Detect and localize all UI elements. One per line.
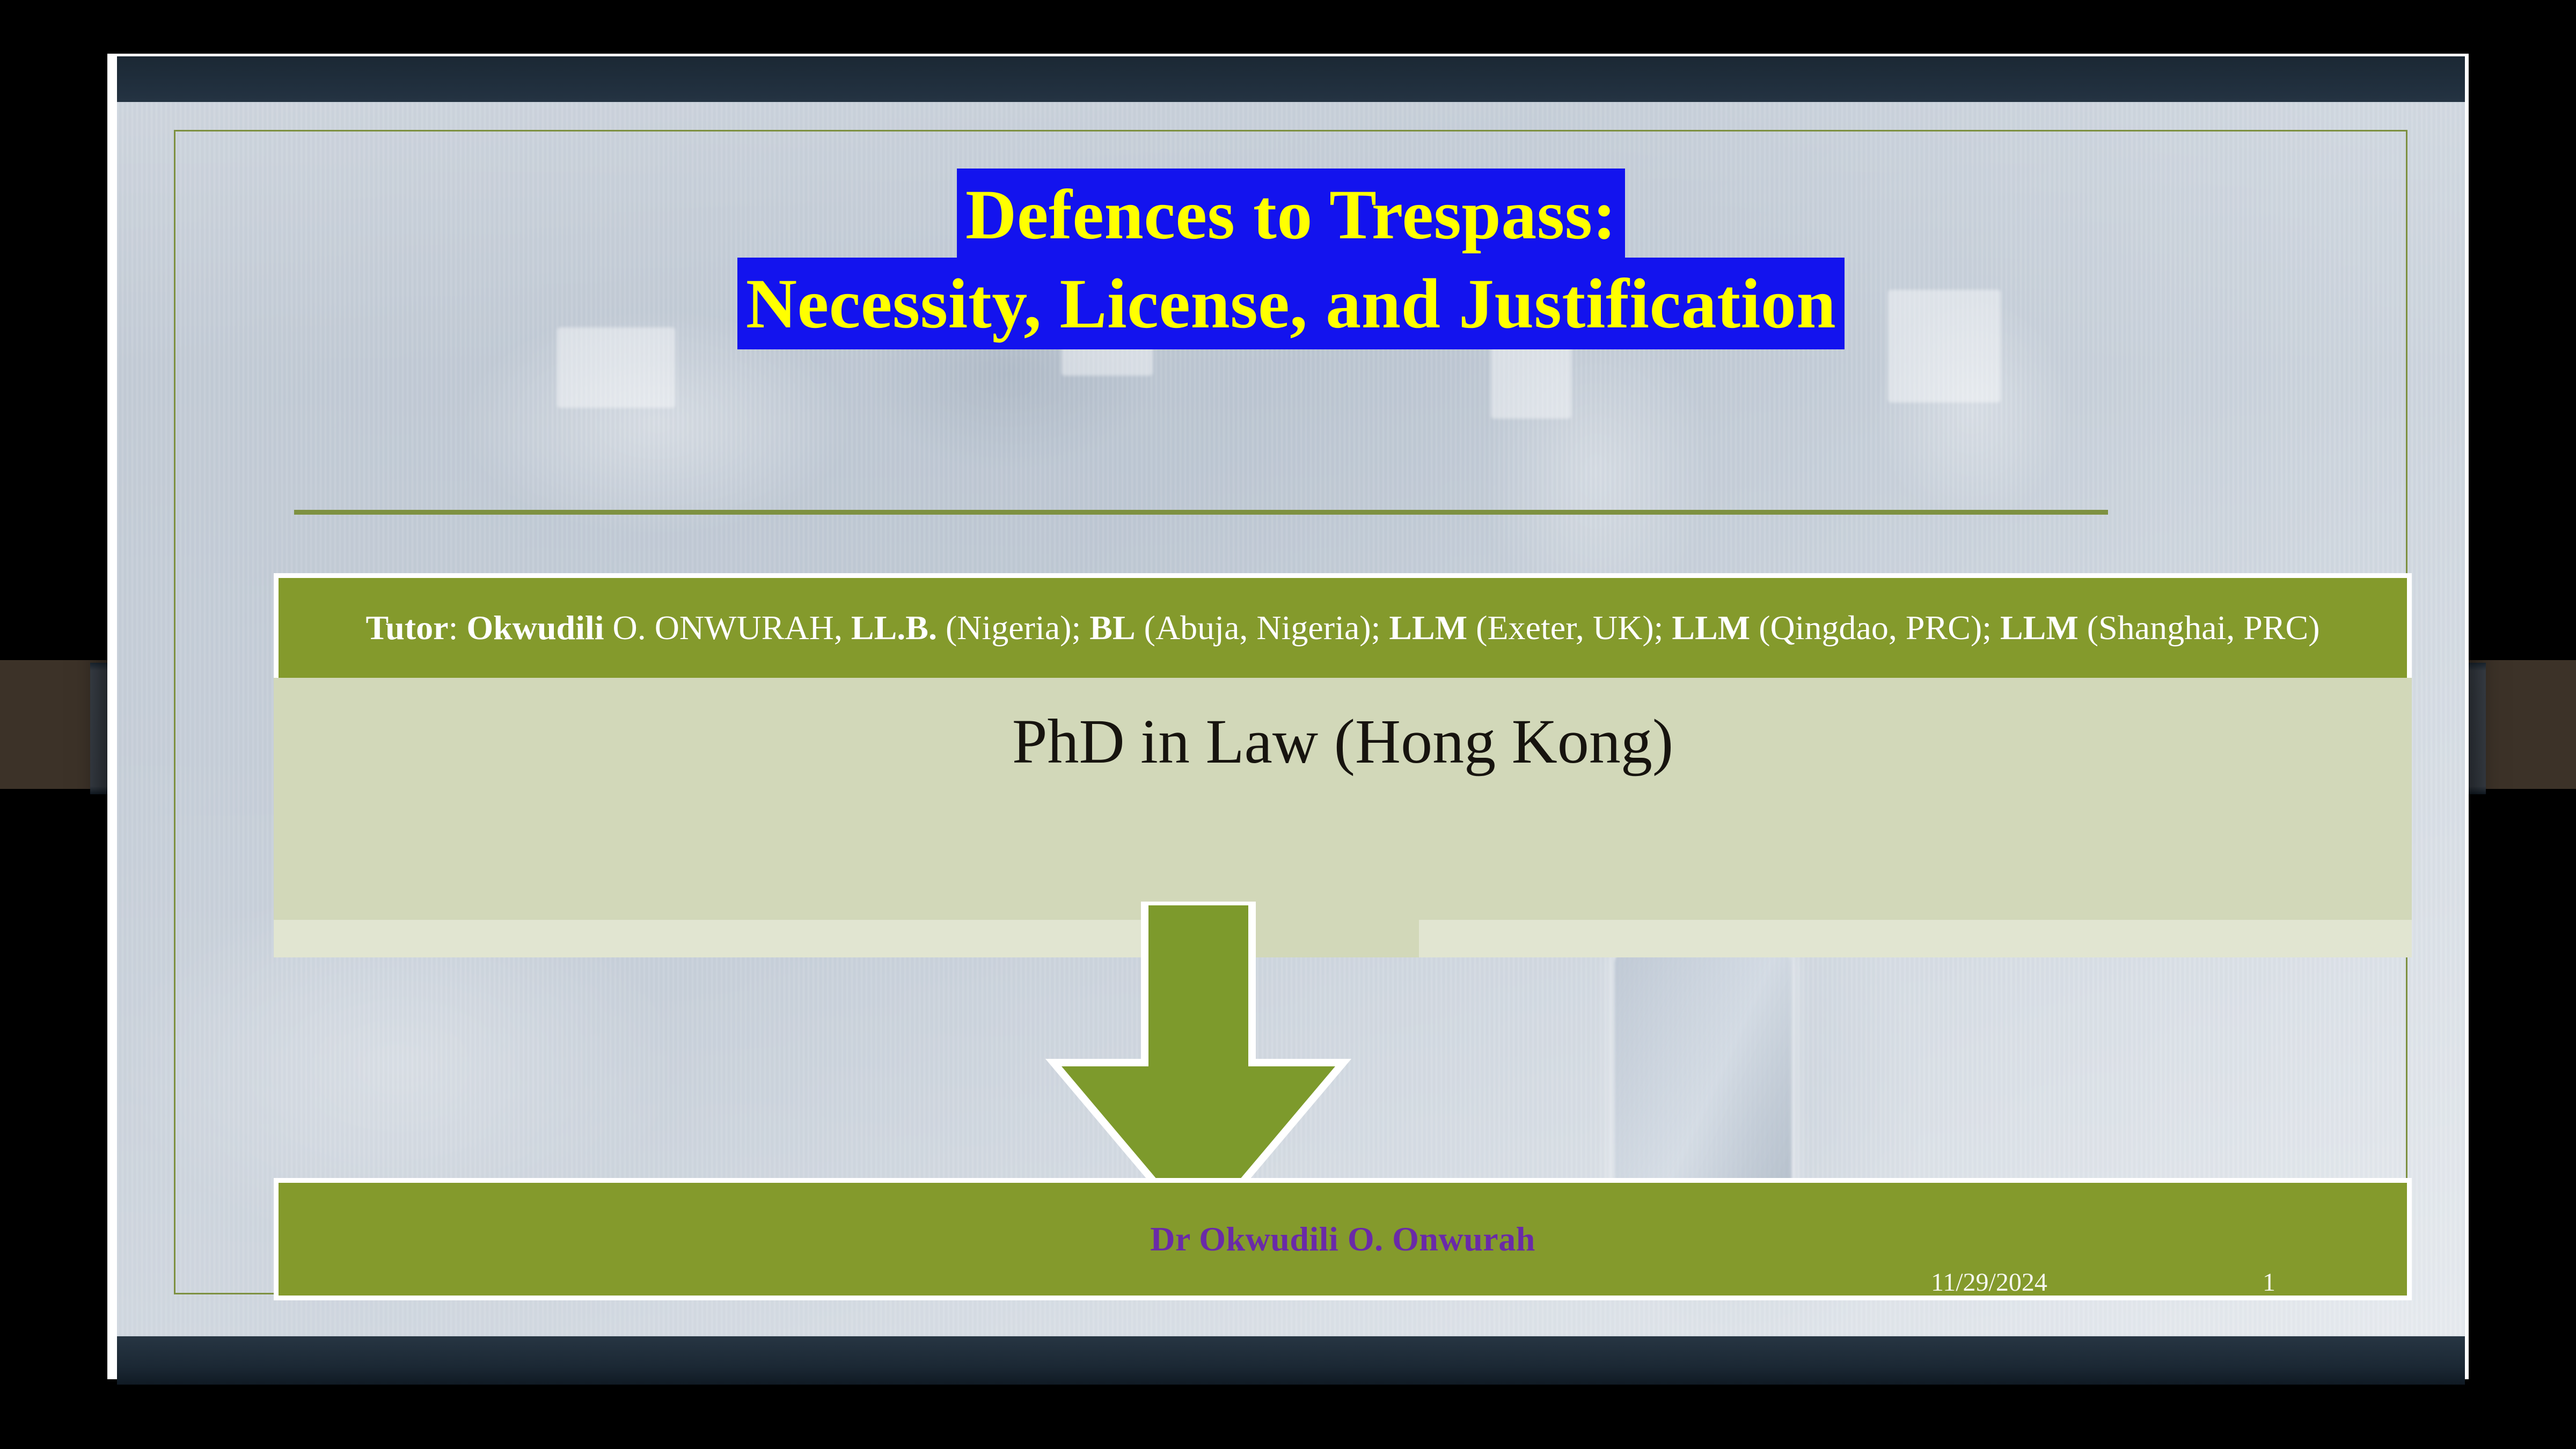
tutor-text-segment: (Abuja, Nigeria); bbox=[1136, 609, 1389, 647]
tutor-text-segment: LL.B. bbox=[851, 609, 937, 647]
tutor-text-segment: : bbox=[449, 609, 467, 647]
tutor-text-segment: (Qingdao, PRC); bbox=[1750, 609, 2000, 647]
tutor-text-segment: Okwudili bbox=[466, 609, 604, 647]
presentation-slide: Defences to Trespass: Necessity, License… bbox=[117, 102, 2465, 1336]
tutor-text-segment: LLM bbox=[2000, 609, 2079, 647]
tutor-text-segment: (Shanghai, PRC) bbox=[2079, 609, 2320, 647]
tutor-text-segment: (Exeter, UK); bbox=[1467, 609, 1672, 647]
tutor-text-segment: (Nigeria); bbox=[937, 609, 1089, 647]
footer-date: 11/29/2024 bbox=[1931, 1268, 2047, 1297]
tutor-text-segment: O. ONWURAH, bbox=[604, 609, 851, 647]
tutor-credentials-text: Tutor: Okwudili O. ONWURAH, LL.B. (Niger… bbox=[347, 608, 2338, 648]
tutor-text-segment: BL bbox=[1089, 609, 1135, 647]
slide-stage: Defences to Trespass: Necessity, License… bbox=[0, 0, 2576, 1449]
tutor-credentials-bar: Tutor: Okwudili O. ONWURAH, LL.B. (Niger… bbox=[274, 573, 2412, 678]
slide-title: Defences to Trespass: Necessity, License… bbox=[117, 169, 2465, 349]
title-divider-rule bbox=[294, 510, 2108, 515]
background-phone-shape bbox=[1614, 950, 1791, 1202]
presenter-name-bar: Dr Okwudili O. Onwurah bbox=[274, 1178, 2412, 1300]
title-line-2: Necessity, License, and Justification bbox=[737, 258, 1845, 350]
phd-box-footer-strip-right bbox=[1419, 920, 2412, 957]
tutor-text-segment: Tutor bbox=[365, 609, 448, 647]
phd-qualification-text: PhD in Law (Hong Kong) bbox=[274, 707, 2412, 777]
tutor-text-segment: LLM bbox=[1672, 609, 1750, 647]
presenter-name-text: Dr Okwudili O. Onwurah bbox=[1150, 1219, 1535, 1259]
tutor-text-segment: LLM bbox=[1389, 609, 1467, 647]
footer-slide-number: 1 bbox=[2263, 1268, 2275, 1297]
title-line-1: Defences to Trespass: bbox=[957, 169, 1625, 261]
